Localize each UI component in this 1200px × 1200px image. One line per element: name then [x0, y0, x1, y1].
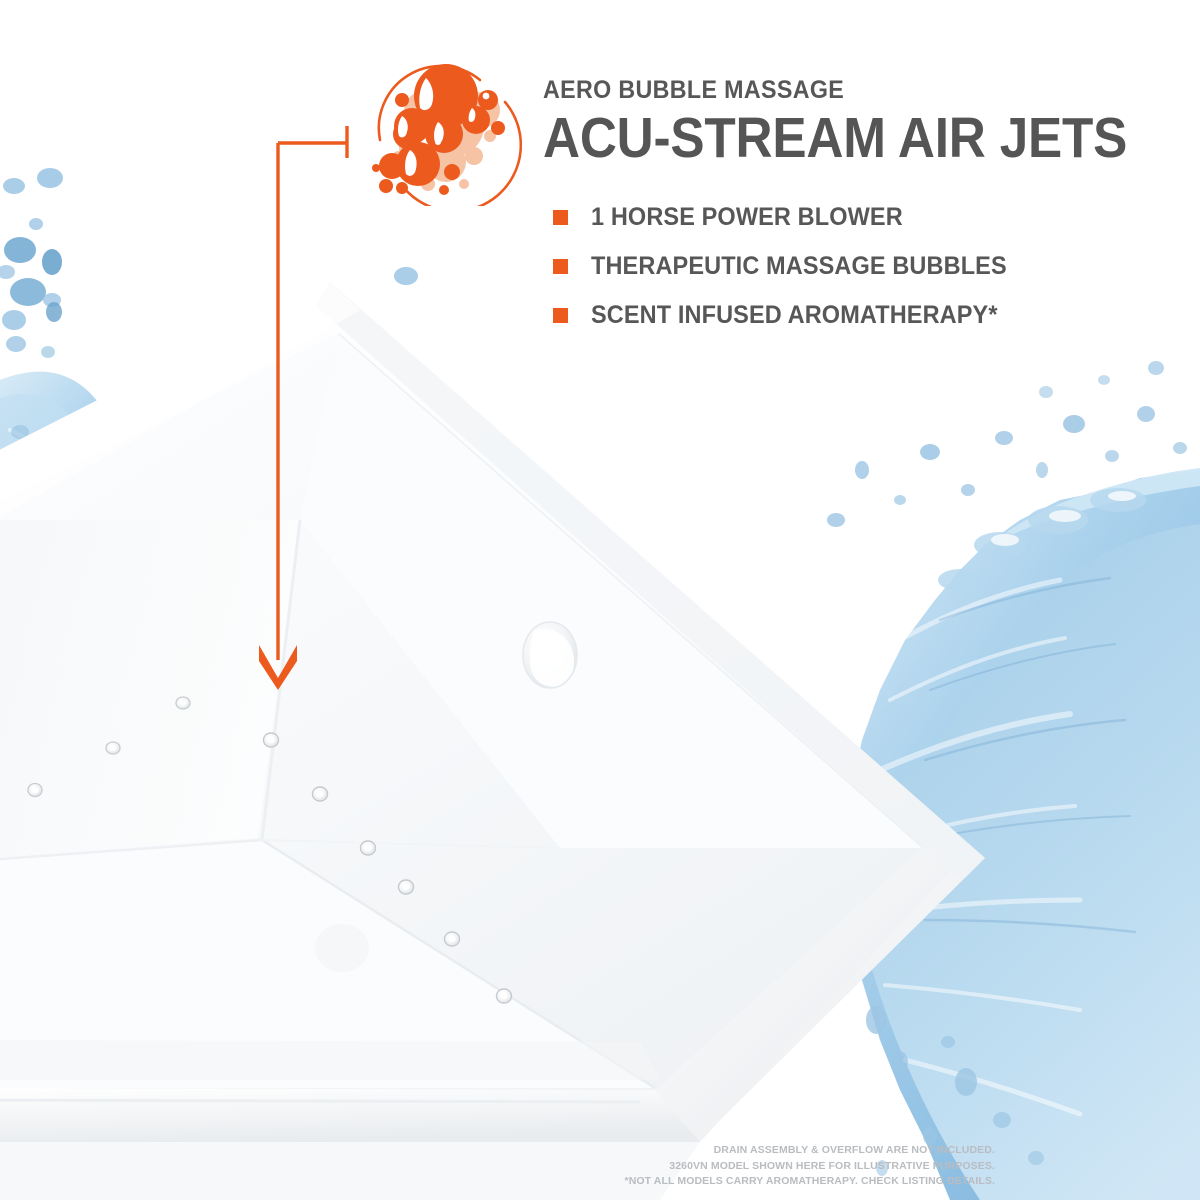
- feature-copy-block: AERO BUBBLE MASSAGE ACU-STREAM AIR JETS …: [543, 78, 1163, 340]
- product-feature-graphic: AERO BUBBLE MASSAGE ACU-STREAM AIR JETS …: [0, 0, 1200, 1200]
- aero-bubble-cluster-icon: [362, 44, 522, 206]
- feature-label: THERAPEUTIC MASSAGE BUBBLES: [591, 254, 1007, 279]
- feature-list: 1 HORSE POWER BLOWER THERAPEUTIC MASSAGE…: [553, 193, 1163, 340]
- disclaimer-line-3: *NOT ALL MODELS CARRY AROMATHERAPY. CHEC…: [625, 1174, 996, 1190]
- feature-label: 1 HORSE POWER BLOWER: [591, 205, 903, 230]
- list-item: SCENT INFUSED AROMATHERAPY*: [553, 291, 1163, 340]
- eyebrow-text: AERO BUBBLE MASSAGE: [543, 78, 1120, 103]
- disclaimer-line-1: DRAIN ASSEMBLY & OVERFLOW ARE NOT INCLUD…: [625, 1143, 996, 1159]
- disclaimer-line-2: 3260VN MODEL SHOWN HERE FOR ILLUSTRATIVE…: [625, 1159, 996, 1175]
- page-title: ACU-STREAM AIR JETS: [543, 109, 1101, 167]
- list-item: 1 HORSE POWER BLOWER: [553, 193, 1163, 242]
- bullet-square-icon: [553, 259, 568, 274]
- feature-label: SCENT INFUSED AROMATHERAPY*: [591, 303, 998, 328]
- disclaimer-text: DRAIN ASSEMBLY & OVERFLOW ARE NOT INCLUD…: [625, 1143, 996, 1190]
- bullet-square-icon: [553, 210, 568, 225]
- list-item: THERAPEUTIC MASSAGE BUBBLES: [553, 242, 1163, 291]
- bullet-square-icon: [553, 308, 568, 323]
